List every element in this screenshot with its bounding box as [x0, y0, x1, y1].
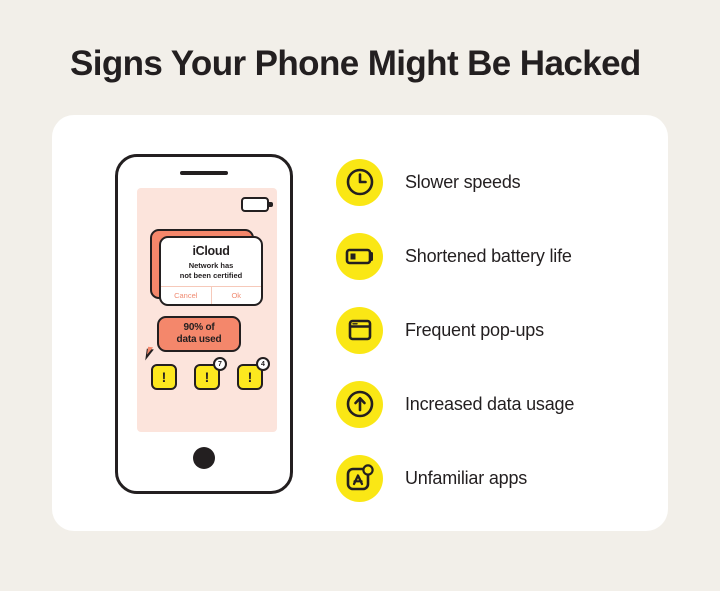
phone-mockup: iCloud Network has not been certified Ca…: [115, 154, 293, 494]
dialog-actions: Cancel Ok: [161, 286, 261, 304]
icloud-dialog: iCloud Network has not been certified Ca…: [159, 236, 263, 306]
sign-label: Frequent pop-ups: [405, 320, 544, 341]
signs-list: Slower speeds Shortened battery life: [336, 145, 648, 515]
battery-low-icon: [336, 233, 383, 280]
dialog-message-line1: Network has: [180, 261, 243, 271]
sign-label: Shortened battery life: [405, 246, 572, 267]
content-card: iCloud Network has not been certified Ca…: [52, 115, 668, 531]
warning-app-icons: ! ! 7 ! 4: [151, 364, 263, 390]
warning-exclamation-icon: !: [151, 364, 177, 390]
dialog-cancel-button[interactable]: Cancel: [161, 287, 211, 304]
phone-speaker-icon: [180, 171, 228, 175]
sign-item-popups: Frequent pop-ups: [336, 293, 648, 367]
dialog-ok-button[interactable]: Ok: [211, 287, 262, 304]
app-icon-item[interactable]: ! 4: [237, 364, 263, 390]
bubble-line-2: data used: [177, 334, 222, 346]
app-icon-item[interactable]: !: [151, 364, 177, 390]
sign-label: Slower speeds: [405, 172, 520, 193]
sign-label: Unfamiliar apps: [405, 468, 527, 489]
infographic-page: Signs Your Phone Might Be Hacked iCloud …: [0, 0, 720, 591]
dialog-title: iCloud: [192, 244, 229, 258]
data-usage-bubble: 90% of data used: [157, 316, 241, 352]
clock-icon: [336, 159, 383, 206]
bubble-tail-icon: [145, 349, 154, 362]
home-button-icon[interactable]: [193, 447, 215, 469]
arrow-up-circle-icon: [336, 381, 383, 428]
app-icon-item[interactable]: ! 7: [194, 364, 220, 390]
phone-screen: iCloud Network has not been certified Ca…: [137, 188, 277, 432]
sign-item-unfamiliar-apps: Unfamiliar apps: [336, 441, 648, 515]
dialog-message: Network has not been certified: [176, 261, 247, 280]
popup-window-icon: [336, 307, 383, 354]
dialog-message-line2: not been certified: [180, 271, 243, 281]
notification-badge: 4: [256, 357, 270, 371]
notification-badge: 7: [213, 357, 227, 371]
empty-battery-icon: [241, 197, 269, 212]
sign-item-data-usage: Increased data usage: [336, 367, 648, 441]
sign-item-battery-life: Shortened battery life: [336, 219, 648, 293]
bubble-line-1: 90% of: [183, 322, 214, 334]
sign-item-slower-speeds: Slower speeds: [336, 145, 648, 219]
sign-label: Increased data usage: [405, 394, 574, 415]
app-store-icon: [336, 455, 383, 502]
page-title: Signs Your Phone Might Be Hacked: [70, 44, 641, 84]
